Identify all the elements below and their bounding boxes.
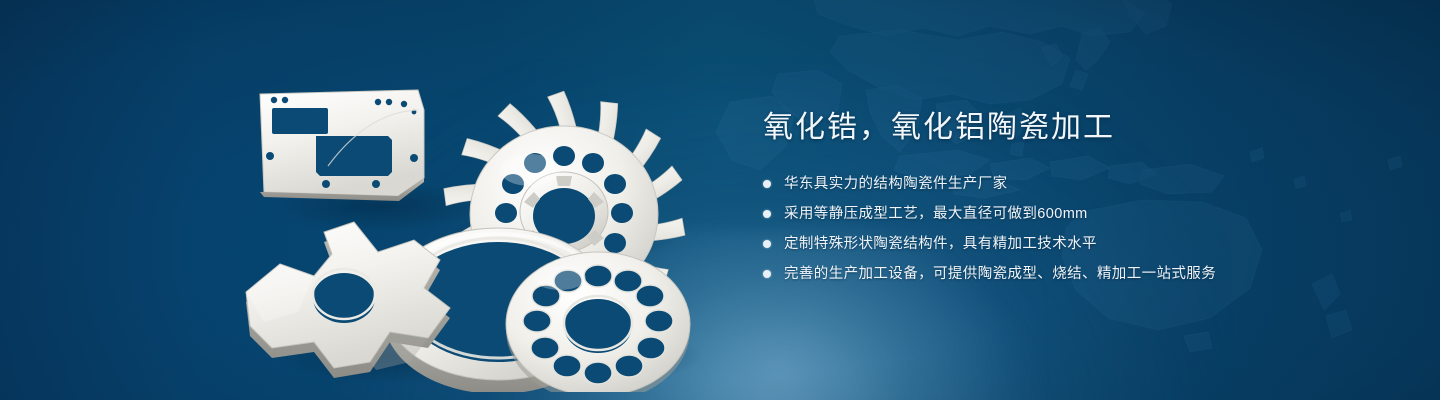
list-item: 华东具实力的结构陶瓷件生产厂家 bbox=[763, 172, 1383, 196]
part-ceramic-plate bbox=[260, 90, 424, 201]
bullet-dot-icon bbox=[763, 240, 771, 248]
list-item: 定制特殊形状陶瓷结构件，具有精加工技术水平 bbox=[763, 232, 1383, 256]
copy-block: 氧化锆，氧化铝陶瓷加工 华东具实力的结构陶瓷件生产厂家 采用等静压成型工艺，最大… bbox=[763, 110, 1383, 292]
feature-text: 完善的生产加工设备，可提供陶瓷成型、烧结、精加工一站式服务 bbox=[784, 267, 1216, 282]
feature-text: 定制特殊形状陶瓷结构件，具有精加工技术水平 bbox=[784, 237, 1097, 252]
feature-text: 华东具实力的结构陶瓷件生产厂家 bbox=[784, 177, 1008, 192]
bullet-dot-icon bbox=[763, 210, 771, 218]
ceramic-components-photo bbox=[228, 26, 718, 392]
hero-banner: 氧化锆，氧化铝陶瓷加工 华东具实力的结构陶瓷件生产厂家 采用等静压成型工艺，最大… bbox=[0, 0, 1440, 400]
page-title: 氧化锆，氧化铝陶瓷加工 bbox=[763, 110, 1383, 146]
part-ceramic-perforated-disc bbox=[506, 252, 690, 392]
list-item: 采用等静压成型工艺，最大直径可做到600mm bbox=[763, 202, 1383, 226]
bullet-dot-icon bbox=[763, 180, 771, 188]
bullet-dot-icon bbox=[763, 270, 771, 278]
feature-list: 华东具实力的结构陶瓷件生产厂家 采用等静压成型工艺，最大直径可做到600mm 定… bbox=[763, 172, 1383, 286]
list-item: 完善的生产加工设备，可提供陶瓷成型、烧结、精加工一站式服务 bbox=[763, 262, 1383, 286]
feature-text: 采用等静压成型工艺，最大直径可做到600mm bbox=[784, 207, 1088, 222]
